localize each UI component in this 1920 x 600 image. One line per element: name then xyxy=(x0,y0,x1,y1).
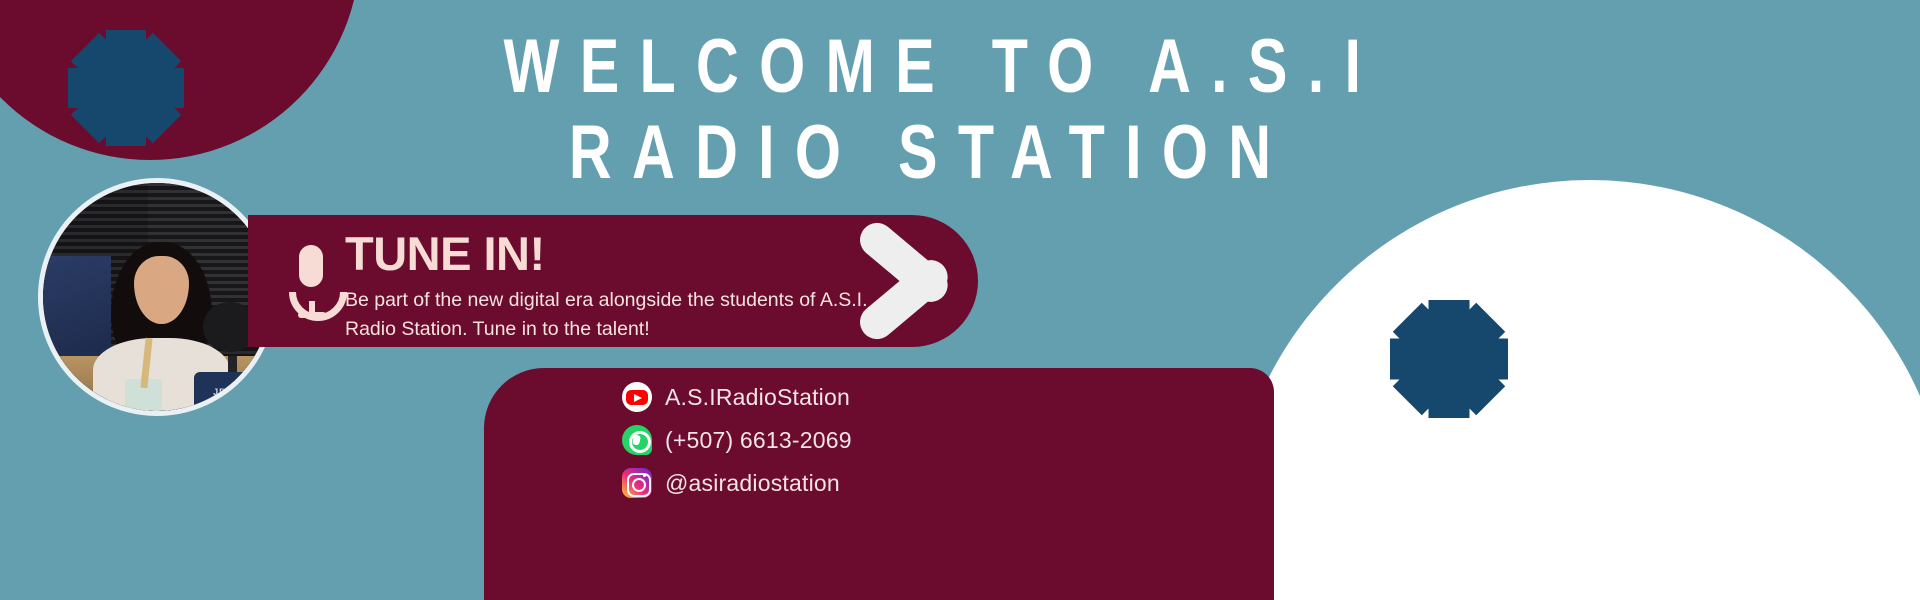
youtube-handle: A.S.IRadioStation xyxy=(665,384,850,411)
contact-row-instagram[interactable]: @asiradiostation xyxy=(622,468,852,498)
whatsapp-icon xyxy=(622,425,652,455)
studio-photo: JBL xyxy=(38,178,276,416)
contact-panel xyxy=(484,368,1274,600)
tune-in-title: TUNE IN! xyxy=(345,228,545,280)
contact-row-whatsapp[interactable]: (+507) 6613-2069 xyxy=(622,425,852,455)
instagram-handle: @asiradiostation xyxy=(665,470,840,497)
whatsapp-number: (+507) 6613-2069 xyxy=(665,427,852,454)
white-circle-decoration xyxy=(1230,180,1920,600)
contact-row-youtube[interactable]: A.S.IRadioStation xyxy=(622,382,852,412)
studio-blue-panel xyxy=(43,256,111,361)
youtube-icon xyxy=(622,382,652,412)
chevron-right-icon xyxy=(860,196,980,364)
asterisk-icon-left xyxy=(68,30,184,146)
studio-photo-inner: JBL xyxy=(43,183,271,411)
tune-in-description: Be part of the new digital era alongside… xyxy=(345,286,880,344)
microphone-icon xyxy=(286,245,336,319)
jbl-speaker: JBL xyxy=(194,372,253,411)
page-title: WELCOME TO A.S.I RADIO STATION xyxy=(483,24,1357,196)
asterisk-icon-right xyxy=(1390,300,1508,418)
contact-list: A.S.IRadioStation (+507) 6613-2069 @asir… xyxy=(622,382,852,498)
instagram-icon xyxy=(622,468,652,498)
headline-line-2: RADIO STATION xyxy=(483,110,1357,196)
radio-station-banner: WELCOME TO A.S.I RADIO STATION JBL TUNE … xyxy=(0,0,1920,600)
headline-line-1: WELCOME TO A.S.I xyxy=(483,24,1357,110)
